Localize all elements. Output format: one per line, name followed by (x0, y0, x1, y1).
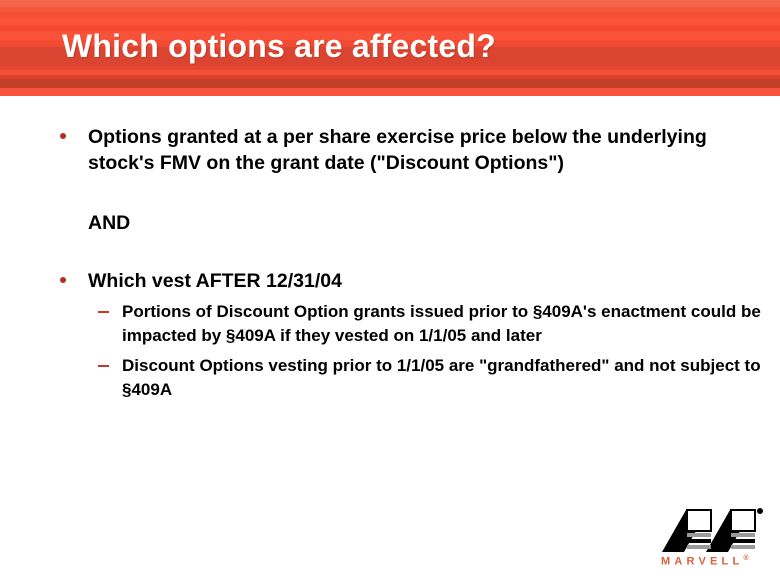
bullet-dash-icon (98, 311, 109, 313)
page-title: Which options are affected? (62, 28, 496, 65)
presentation-slide: Which options are affected? Options gran… (0, 0, 780, 587)
sub-bullet-item-1: Portions of Discount Option grants issue… (0, 300, 780, 348)
header-stripe (0, 88, 780, 96)
bullet-dash-icon (98, 365, 109, 367)
bullet-item-2: Which vest AFTER 12/31/04 (0, 268, 778, 294)
marvell-logo: MARVELL® (658, 506, 770, 580)
bullet-dot-icon (60, 133, 66, 139)
spacer (0, 176, 780, 210)
registered-trademark-icon: ® (743, 555, 748, 562)
marvell-wordmark-text: MARVELL (661, 556, 743, 568)
marvell-wordmark: MARVELL® (661, 555, 749, 568)
header-stripe (0, 79, 780, 88)
slide-body: Options granted at a per share exercise … (0, 96, 780, 516)
bullet-text: Portions of Discount Option grants issue… (122, 302, 761, 345)
header-stripe (0, 0, 780, 7)
bullet-item-1: Options granted at a per share exercise … (0, 124, 778, 176)
bullet-text: Which vest AFTER 12/31/04 (88, 270, 342, 292)
header-stripe (0, 18, 780, 26)
bullet-text: Options granted at a per share exercise … (88, 126, 707, 174)
sub-bullet-item-2: Discount Options vesting prior to 1/1/05… (0, 354, 780, 402)
spacer (0, 236, 780, 268)
bullet-text: Discount Options vesting prior to 1/1/05… (122, 356, 761, 399)
bullet-dot-icon (60, 277, 66, 283)
bullet-text: AND (88, 212, 130, 234)
conjunction-and: AND (0, 210, 780, 236)
marvell-logo-mark-icon (662, 506, 766, 552)
